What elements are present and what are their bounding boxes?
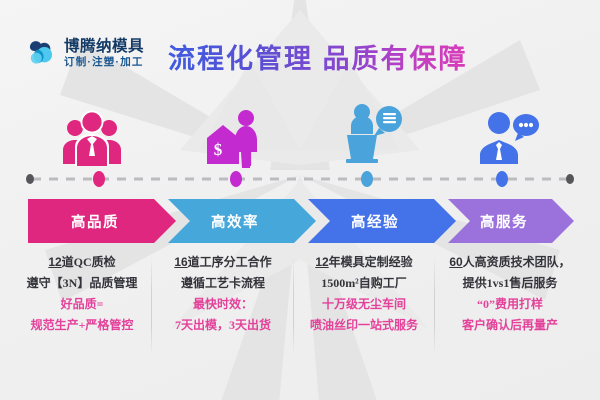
- ribbon-quality-label: 高品质: [71, 211, 119, 232]
- detail-column-service: 60人高资质技术团队， 提供1vs1售后服务 “0”费用打样 客户确认后再量产: [440, 252, 580, 336]
- detail-line: 喷油丝印一站式服务: [294, 315, 434, 336]
- ribbon-efficiency-label: 高效率: [211, 211, 259, 232]
- detail-number: 12: [48, 255, 61, 269]
- icon-row: $: [0, 96, 600, 168]
- timeline-cap-left: [26, 174, 34, 184]
- detail-line: 遵循工艺卡流程: [153, 273, 293, 294]
- timeline-dot-efficiency: [230, 171, 242, 187]
- column-divider: [434, 256, 435, 356]
- page-title: 流程化管理 品质有保障: [168, 37, 468, 76]
- house-money-person-icon: $: [201, 108, 263, 168]
- detail-line: 最快时效：: [153, 294, 293, 315]
- ribbon-efficiency[interactable]: 高效率: [168, 199, 316, 243]
- detail-column-efficiency: 16道工序分工合作 遵循工艺卡流程 最快时效： 7天出模，3天出货: [153, 252, 293, 336]
- detail-text: 道QC质检: [62, 255, 116, 269]
- detail-column-experience: 12年模具定制经验 1500m²自购工厂 十万级无尘车间 喷油丝印一站式服务: [294, 252, 434, 336]
- detail-line: 12道QC质检: [12, 252, 152, 273]
- icon-cell-experience: [302, 96, 442, 168]
- detail-line: 60人高资质技术团队，: [440, 252, 580, 273]
- detail-line: 好品质=: [12, 294, 152, 315]
- timeline-cap-right: [566, 174, 574, 184]
- detail-text: 人高资质技术团队，: [463, 255, 571, 269]
- ribbon-quality[interactable]: 高品质: [28, 199, 176, 243]
- ribbon-experience[interactable]: 高经验: [308, 199, 456, 243]
- detail-line: 7天出模，3天出货: [153, 315, 293, 336]
- icon-cell-efficiency: $: [162, 96, 302, 168]
- detail-line: 十万级无尘车间: [294, 294, 434, 315]
- detail-line: 遵守【3N】品质管理: [12, 273, 152, 294]
- group-of-people-icon: [60, 106, 124, 168]
- ribbon-service-label: 高服务: [480, 211, 528, 232]
- detail-line: 规范生产+严格管控: [12, 315, 152, 336]
- detail-line: “0”费用打样: [440, 294, 580, 315]
- detail-line: 1500m²自购工厂: [294, 273, 434, 294]
- company-logo: 博腾纳模具 订制·注塑·加工: [24, 36, 144, 70]
- person-chat-icon: [477, 108, 539, 168]
- timeline: [0, 168, 600, 190]
- svg-text:$: $: [214, 140, 223, 159]
- icon-cell-quality: [22, 96, 162, 168]
- speaker-podium-icon: [341, 102, 403, 168]
- detail-text: 年模具定制经验: [329, 255, 413, 269]
- botengna-cloud-logo-icon: [24, 36, 58, 70]
- detail-line: 12年模具定制经验: [294, 252, 434, 273]
- detail-line: 提供1vs1售后服务: [440, 273, 580, 294]
- timeline-dot-experience: [361, 171, 373, 187]
- detail-text: 道工序分工合作: [188, 255, 272, 269]
- detail-columns: 12道QC质检 遵守【3N】品质管理 好品质= 规范生产+严格管控 16道工序分…: [0, 252, 600, 362]
- detail-number: 16: [174, 255, 187, 269]
- timeline-dot-quality: [93, 171, 105, 187]
- icon-cell-service: [438, 96, 578, 168]
- detail-column-quality: 12道QC质检 遵守【3N】品质管理 好品质= 规范生产+严格管控: [12, 252, 152, 336]
- infographic-poster: 博腾纳模具 订制·注塑·加工 流程化管理 品质有保障: [0, 0, 600, 400]
- poster-header: 博腾纳模具 订制·注塑·加工 流程化管理 品质有保障: [0, 0, 600, 92]
- logo-company-name: 博腾纳模具: [64, 39, 144, 55]
- detail-line: 客户确认后再量产: [440, 315, 580, 336]
- ribbon-service[interactable]: 高服务: [448, 199, 574, 243]
- ribbon-banner-row: 高品质 高效率 高经验 高服务: [28, 199, 574, 243]
- timeline-dot-service: [496, 171, 508, 187]
- detail-line: 16道工序分工合作: [153, 252, 293, 273]
- logo-subtitle: 订制·注塑·加工: [64, 57, 144, 68]
- ribbon-experience-label: 高经验: [351, 211, 399, 232]
- detail-number: 12: [315, 255, 328, 269]
- detail-number: 60: [449, 255, 462, 269]
